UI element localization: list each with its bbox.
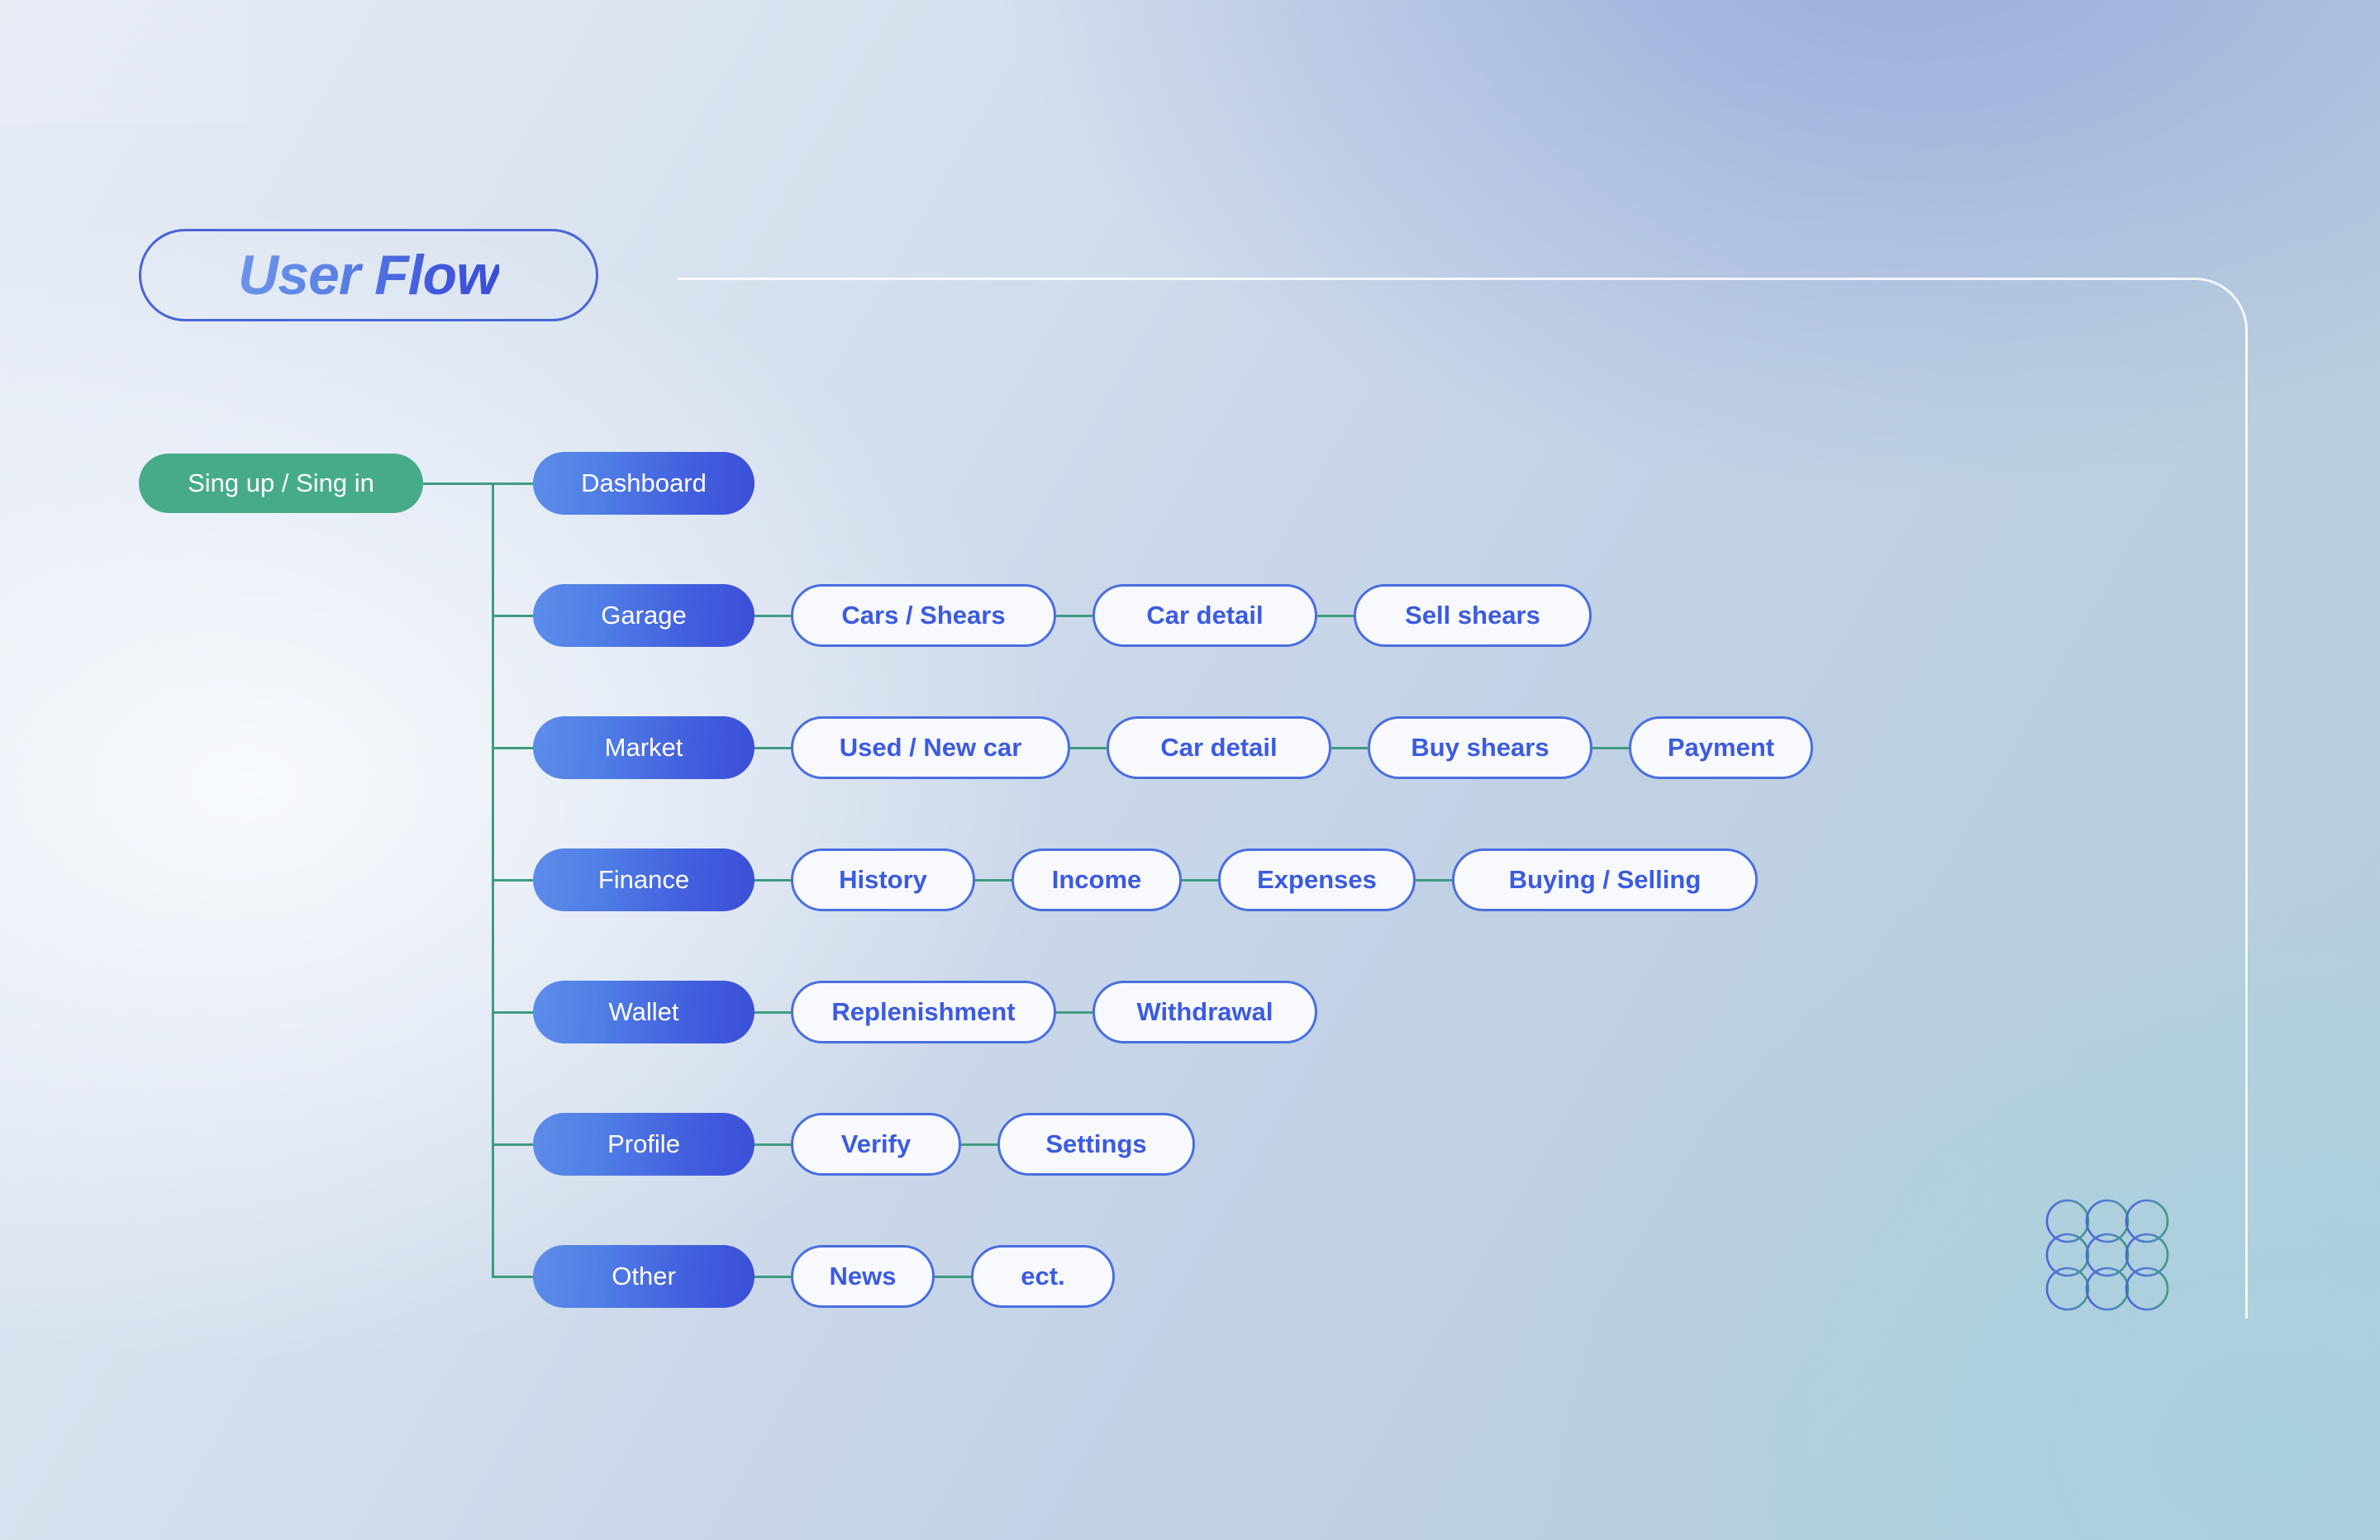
primary-pill-finance-label: Finance bbox=[598, 865, 689, 895]
flower-grid-logo-icon bbox=[2043, 1196, 2172, 1314]
child-connector-3-1 bbox=[975, 879, 1011, 882]
child-connector-2-2 bbox=[1331, 747, 1368, 749]
primary-pill-profile[interactable]: Profile bbox=[533, 1113, 754, 1176]
child-connector-1-1 bbox=[1056, 615, 1092, 617]
leaf-pill-car-detail[interactable]: Car detail bbox=[1107, 716, 1331, 779]
child-connector-6-0 bbox=[754, 1276, 791, 1278]
leaf-pill-sell-shears[interactable]: Sell shears bbox=[1354, 584, 1592, 647]
leaf-pill-withdrawal[interactable]: Withdrawal bbox=[1092, 981, 1317, 1043]
child-connector-1-2 bbox=[1317, 615, 1354, 617]
leaf-pill-buy-shears[interactable]: Buy shears bbox=[1368, 716, 1592, 779]
leaf-pill-ect[interactable]: ect. bbox=[971, 1245, 1115, 1308]
child-connector-2-0 bbox=[754, 747, 791, 749]
child-connector-3-3 bbox=[1416, 879, 1452, 882]
child-connector-4-0 bbox=[754, 1011, 791, 1014]
leaf-pill-settings-label: Settings bbox=[1045, 1129, 1146, 1159]
grain-texture bbox=[0, 0, 248, 124]
primary-pill-dashboard-label: Dashboard bbox=[581, 468, 707, 498]
child-connector-5-1 bbox=[961, 1143, 997, 1146]
leaf-pill-history-label: History bbox=[839, 865, 927, 895]
child-connector-6-1 bbox=[935, 1276, 971, 1278]
page-title: User Flow bbox=[238, 243, 499, 307]
leaf-pill-buying-selling-label: Buying / Selling bbox=[1509, 865, 1702, 895]
leaf-pill-car-detail-label: Car detail bbox=[1160, 733, 1277, 763]
branch-line-6 bbox=[492, 1276, 533, 1278]
user-flow-diagram-canvas: User Flow Sing up / Sing inDashboardGara… bbox=[0, 0, 2380, 1540]
primary-pill-garage[interactable]: Garage bbox=[533, 584, 754, 647]
primary-pill-dashboard[interactable]: Dashboard bbox=[533, 452, 754, 515]
entry-connector-line bbox=[423, 482, 494, 485]
branch-line-3 bbox=[492, 879, 533, 882]
leaf-pill-payment-label: Payment bbox=[1668, 733, 1774, 763]
primary-pill-market-label: Market bbox=[605, 733, 683, 763]
leaf-pill-history[interactable]: History bbox=[791, 848, 975, 911]
child-connector-3-0 bbox=[754, 879, 791, 882]
leaf-pill-verify-label: Verify bbox=[841, 1129, 911, 1159]
child-connector-1-0 bbox=[754, 615, 791, 617]
leaf-pill-news[interactable]: News bbox=[791, 1245, 935, 1308]
leaf-pill-car-detail[interactable]: Car detail bbox=[1092, 584, 1317, 647]
child-connector-2-3 bbox=[1592, 747, 1629, 749]
entry-pill-sign-up-sign-in-label: Sing up / Sing in bbox=[188, 468, 374, 498]
leaf-pill-cars-shears[interactable]: Cars / Shears bbox=[791, 584, 1056, 647]
leaf-pill-news-label: News bbox=[830, 1262, 897, 1291]
entry-pill-sign-up-sign-in[interactable]: Sing up / Sing in bbox=[139, 454, 423, 513]
branch-line-0 bbox=[492, 482, 533, 485]
leaf-pill-settings[interactable]: Settings bbox=[997, 1113, 1195, 1176]
child-connector-4-1 bbox=[1056, 1011, 1092, 1014]
branch-line-2 bbox=[492, 747, 533, 749]
primary-pill-wallet[interactable]: Wallet bbox=[533, 981, 754, 1043]
leaf-pill-withdrawal-label: Withdrawal bbox=[1136, 997, 1273, 1027]
primary-pill-other[interactable]: Other bbox=[533, 1245, 754, 1308]
branch-line-1 bbox=[492, 615, 533, 617]
child-connector-5-0 bbox=[754, 1143, 791, 1146]
leaf-pill-replenishment[interactable]: Replenishment bbox=[791, 981, 1056, 1043]
primary-pill-profile-label: Profile bbox=[607, 1129, 680, 1159]
leaf-pill-used-new-car[interactable]: Used / New car bbox=[791, 716, 1070, 779]
leaf-pill-used-new-car-label: Used / New car bbox=[840, 733, 1022, 763]
leaf-pill-expenses[interactable]: Expenses bbox=[1218, 848, 1416, 911]
leaf-pill-payment[interactable]: Payment bbox=[1629, 716, 1813, 779]
leaf-pill-buying-selling[interactable]: Buying / Selling bbox=[1452, 848, 1758, 911]
primary-pill-finance[interactable]: Finance bbox=[533, 848, 754, 911]
leaf-pill-buy-shears-label: Buy shears bbox=[1411, 733, 1549, 763]
leaf-pill-car-detail-label: Car detail bbox=[1146, 601, 1263, 630]
leaf-pill-ect-label: ect. bbox=[1021, 1262, 1064, 1291]
primary-pill-garage-label: Garage bbox=[601, 601, 686, 630]
page-title-pill: User Flow bbox=[139, 229, 598, 321]
primary-pill-wallet-label: Wallet bbox=[609, 997, 679, 1027]
primary-pill-other-label: Other bbox=[612, 1262, 676, 1291]
leaf-pill-cars-shears-label: Cars / Shears bbox=[841, 601, 1005, 630]
leaf-pill-replenishment-label: Replenishment bbox=[831, 997, 1015, 1027]
leaf-pill-income[interactable]: Income bbox=[1011, 848, 1182, 911]
child-connector-3-2 bbox=[1182, 879, 1218, 882]
primary-pill-market[interactable]: Market bbox=[533, 716, 754, 779]
branch-line-4 bbox=[492, 1011, 533, 1014]
branch-line-5 bbox=[492, 1143, 533, 1146]
leaf-pill-verify[interactable]: Verify bbox=[791, 1113, 961, 1176]
child-connector-2-1 bbox=[1070, 747, 1107, 749]
leaf-pill-expenses-label: Expenses bbox=[1257, 865, 1377, 895]
leaf-pill-sell-shears-label: Sell shears bbox=[1405, 601, 1540, 630]
leaf-pill-income-label: Income bbox=[1052, 865, 1142, 895]
